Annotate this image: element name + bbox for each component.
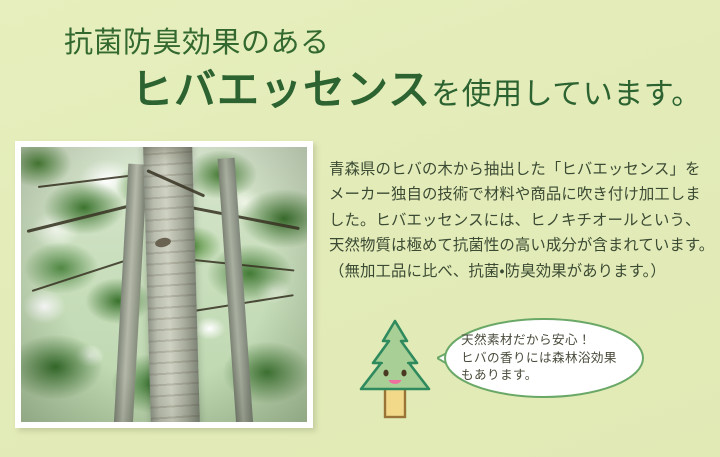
- headline-line-1: 抗菌防臭効果のある: [64, 28, 330, 60]
- speech-bubble-line: 天然素材だから安心！: [461, 331, 637, 349]
- tree-mascot-foliage: [361, 321, 429, 389]
- tree-mascot-trunk: [385, 387, 405, 417]
- body-copy: 青森県のヒバの木から抽出した「ヒバエッセンス」を メーカー独自の技術で材料や商品…: [329, 157, 717, 284]
- tree-mascot-eye-left: [383, 370, 388, 377]
- body-copy-line: メーカー独自の技術で材料や商品に吹き付け加工しま: [329, 182, 717, 207]
- body-copy-line: （無加工品に比べ、抗菌・防臭効果があります。）: [329, 259, 717, 284]
- body-copy-line: 青森県のヒバの木から抽出した「ヒバエッセンス」を: [329, 157, 717, 182]
- speech-bubble-line: ヒバの香りには森林浴効果: [461, 349, 637, 367]
- speech-bubble: 天然素材だから安心！ ヒバの香りには森林浴効果 もあります。: [437, 317, 645, 399]
- tree-mascot-eye-right: [401, 370, 406, 377]
- speech-bubble-text: 天然素材だから安心！ ヒバの香りには森林浴効果 もあります。: [461, 331, 637, 384]
- hiba-essence-banner: 抗菌防臭効果のある ヒバエッセンスを使用しています。 青森県のヒバの木から抽出し…: [0, 0, 720, 457]
- hiba-forest-photo-frame: [15, 141, 313, 428]
- headline-emphasis-text: ヒバエッセンス: [131, 68, 431, 114]
- tree-mascot-icon: [345, 315, 445, 427]
- hiba-forest-photo: [21, 147, 307, 422]
- speech-bubble-line: もあります。: [461, 366, 637, 384]
- tree-mascot: [345, 315, 445, 427]
- body-copy-line: した。ヒバエッセンスには、ヒノキチオールという、: [329, 208, 717, 233]
- headline-tail-text: を使用しています。: [431, 78, 702, 111]
- headline-line-2: ヒバエッセンスを使用しています。: [131, 70, 702, 112]
- photo-vignette: [21, 147, 307, 422]
- body-copy-line: 天然物質は極めて抗菌性の高い成分が含まれています。: [329, 233, 717, 258]
